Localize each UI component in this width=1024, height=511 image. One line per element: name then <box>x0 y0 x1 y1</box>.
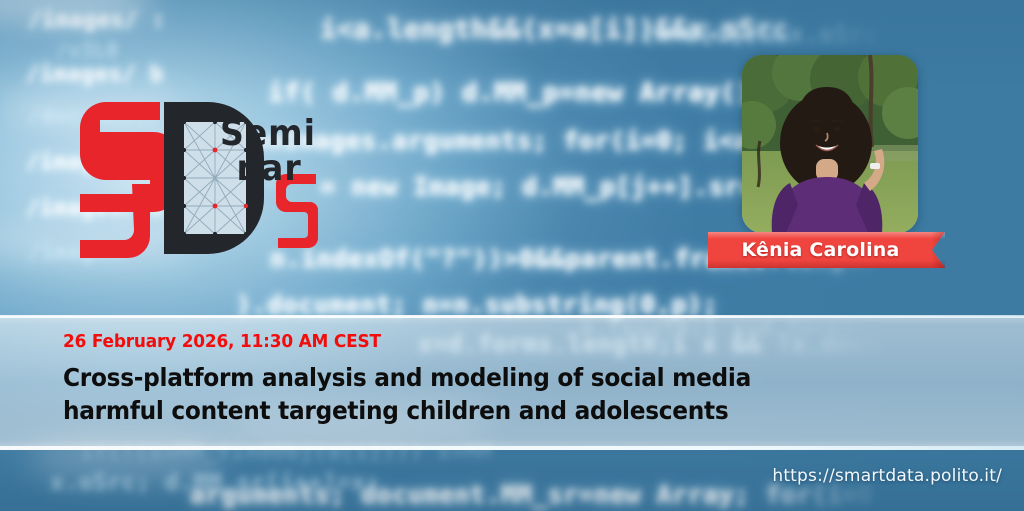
smartdata-seminar-logo[interactable]: Semi nar <box>72 88 392 268</box>
talk-title: Cross-platform analysis and modeling of … <box>63 361 863 427</box>
talk-title-line-2: harmful content targeting children and a… <box>63 394 863 427</box>
logo-letter-s-upper <box>80 102 176 212</box>
info-band-content: 26 February 2026, 11:30 AM CEST Cross-pl… <box>63 332 923 427</box>
info-band-top-edge <box>0 315 1024 318</box>
speaker-name-label: Kênia Carolina <box>708 232 945 268</box>
website-url[interactable]: https://smartdata.polito.it/ <box>772 466 1002 486</box>
speaker-name-ribbon: Kênia Carolina <box>708 232 945 268</box>
logo-wordmark-line2: nar <box>237 151 302 186</box>
speaker-photo <box>742 55 918 233</box>
info-band-bottom-edge <box>0 446 1024 450</box>
talk-title-line-1: Cross-platform analysis and modeling of … <box>63 361 863 394</box>
seminar-poster: i<a.length&&(x=a[i])&&x.sSrc(x=a[i])&&x.… <box>0 0 1024 511</box>
event-datetime: 26 February 2026, 11:30 AM CEST <box>63 332 871 352</box>
